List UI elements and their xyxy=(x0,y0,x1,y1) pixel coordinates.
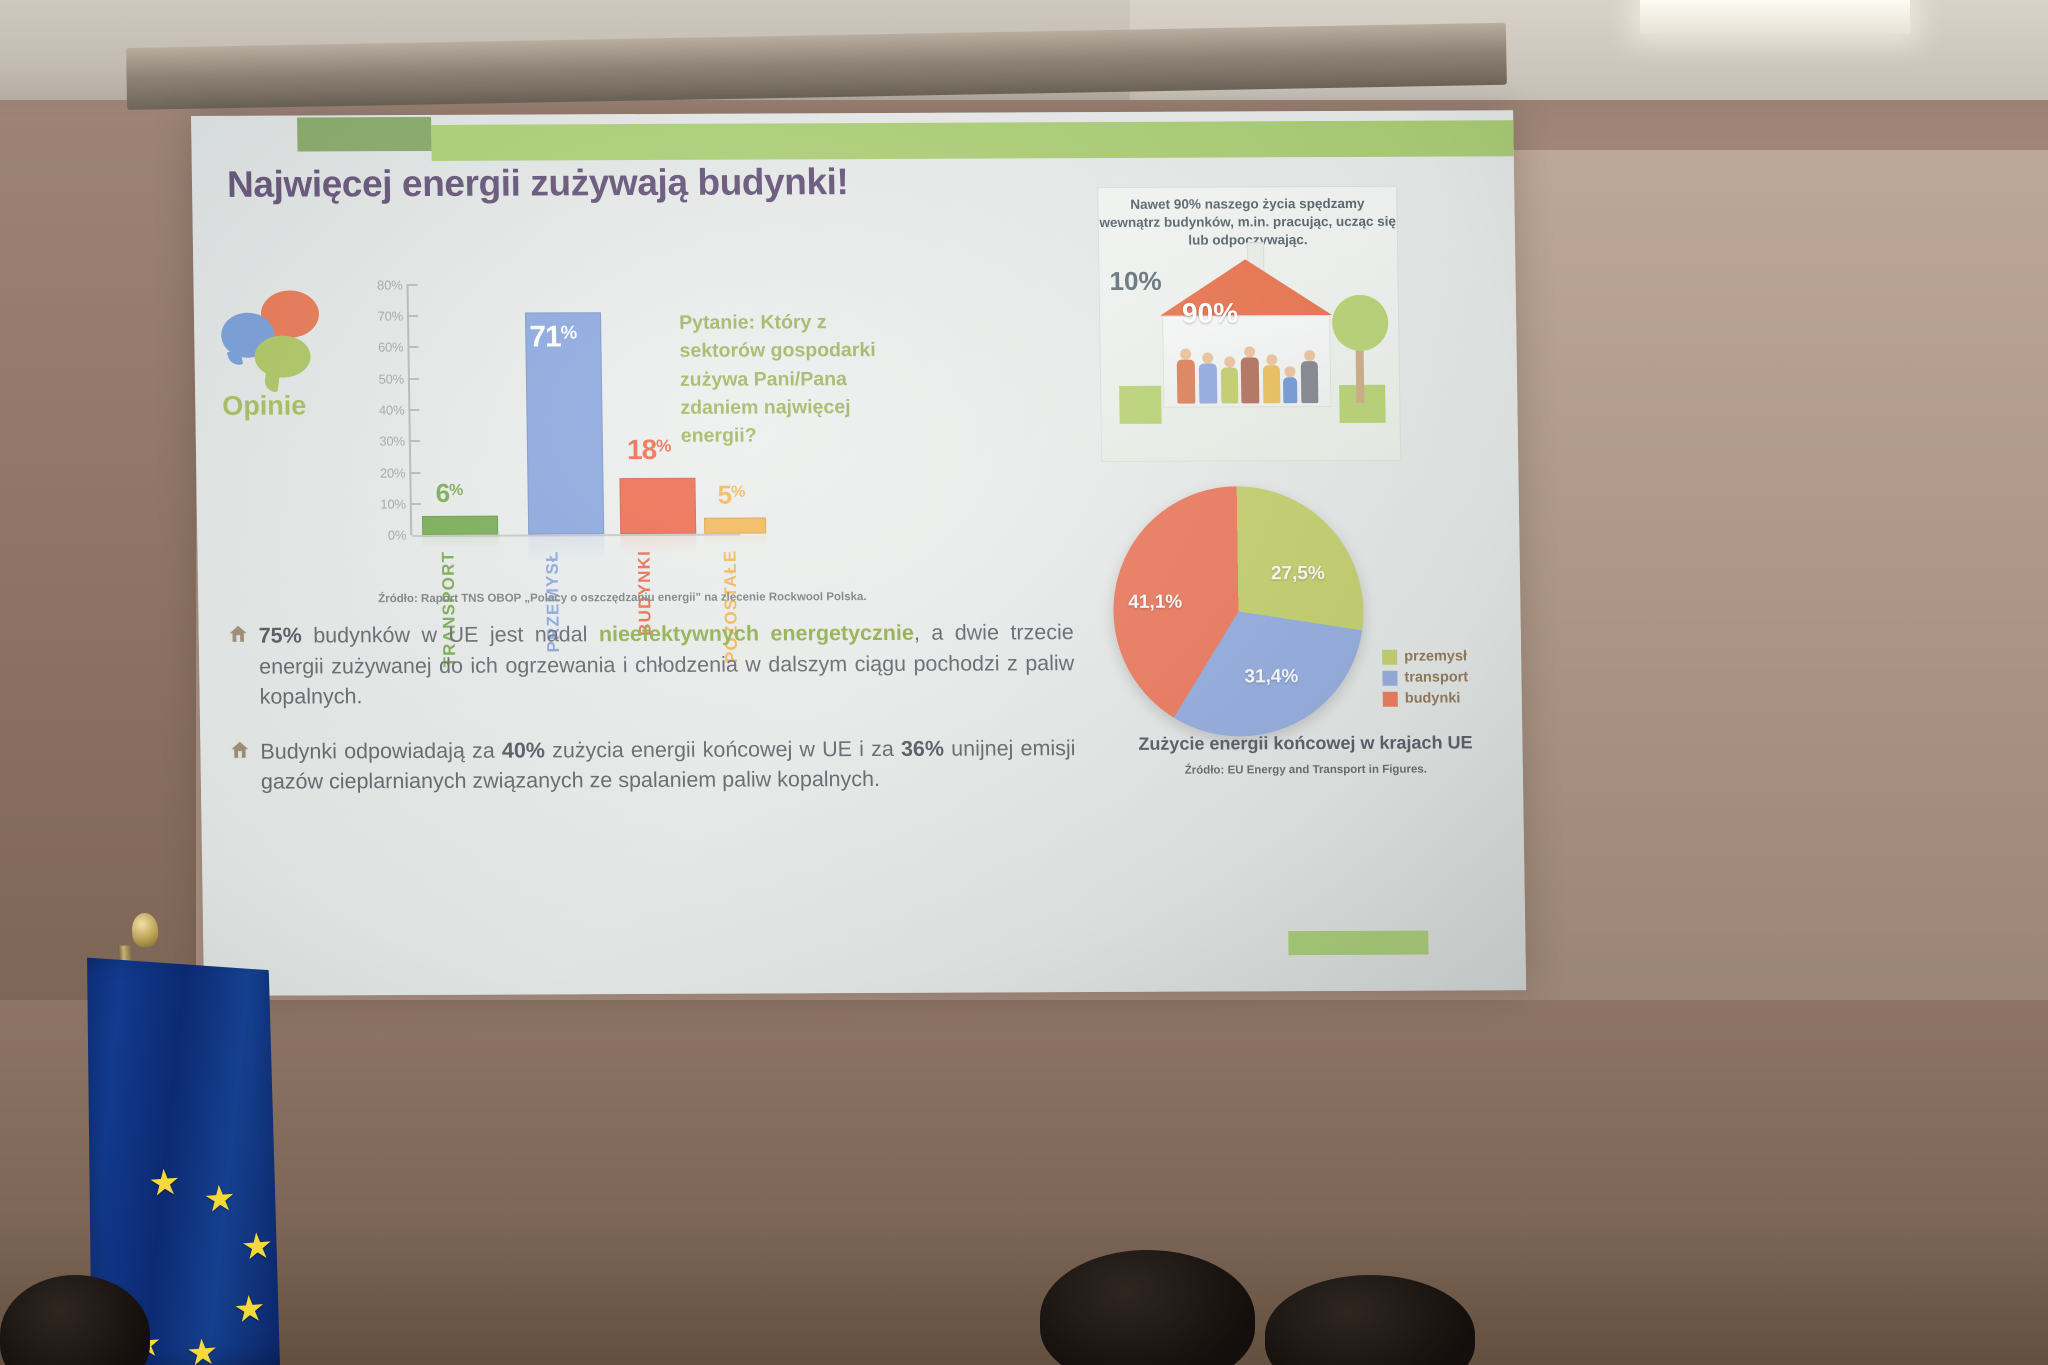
bar-budynki xyxy=(619,478,696,534)
infographic-card: Nawet 90% naszego życia spędzamy wewnątr… xyxy=(1097,186,1401,462)
footer-bar-green xyxy=(1288,931,1428,956)
legend-label-budynki: budynki xyxy=(1405,690,1461,706)
projected-slide: Najwięcej energii zużywają budynki! Opin… xyxy=(191,110,1526,996)
y-tick-40: 40% xyxy=(379,403,405,418)
bullet-2-bold-2: 36% xyxy=(901,736,944,760)
bullet-1-highlight: nieefektywnych energetycznie xyxy=(599,621,914,646)
home-icon xyxy=(229,625,248,643)
legend-swatch-przemysl xyxy=(1382,649,1397,664)
bar-value-budynki: 18% xyxy=(627,434,671,466)
bullet-2-bold-1: 40% xyxy=(502,738,545,762)
pie-chart-caption: Zużycie energii końcowej w krajach UE xyxy=(1105,732,1505,755)
header-bar-dark xyxy=(297,117,432,152)
bullet-2-lead: Budynki xyxy=(260,739,337,763)
eu-star-3: ★ xyxy=(240,1227,275,1265)
person-1 xyxy=(1177,360,1196,404)
right-column: Nawet 90% naszego życia spędzamy wewnątr… xyxy=(1087,185,1497,187)
person-2 xyxy=(1199,364,1218,404)
bullet-text-1: 75% budynków w UE jest nadal nieefektywn… xyxy=(258,617,1074,712)
y-tick-50: 50% xyxy=(378,372,404,387)
legend-item-przemysl: przemysł xyxy=(1382,648,1468,664)
bullet-1-lead: 75% xyxy=(259,623,302,647)
page-title: Najwięcej energii zużywają budynki! xyxy=(227,161,849,206)
y-tick-60: 60% xyxy=(378,340,404,355)
y-axis-ticks: 80% 70% 60% 50% 40% 30% 20% 10% 0% xyxy=(349,285,411,535)
opinions-block: Opinie xyxy=(221,290,346,291)
legend-item-budynki: budynki xyxy=(1383,690,1469,706)
bullet-2-text-a: odpowiadają za xyxy=(337,738,502,763)
eu-star-2: ★ xyxy=(202,1180,237,1218)
y-tick-0: 0% xyxy=(388,528,407,543)
bar-value-transport: 6% xyxy=(435,478,462,509)
bar-pozostale xyxy=(704,517,766,533)
bar-reflection-transport xyxy=(422,536,498,548)
bar-reflection-pozostale xyxy=(704,534,766,546)
bar-value-przemysl: 71% xyxy=(529,320,576,354)
pie-label-transport: 31,4% xyxy=(1244,666,1298,688)
person-7 xyxy=(1301,361,1319,403)
bullet-2-text-b: zużycia energii końcowej w UE i za xyxy=(545,736,901,762)
home-icon xyxy=(230,740,249,758)
slide-header-bars xyxy=(191,110,1514,158)
pie-label-budynki: 41,1% xyxy=(1128,592,1182,614)
person-5 xyxy=(1263,365,1281,403)
tree-crown-icon xyxy=(1332,295,1389,351)
pie-chart-source: Źródło: EU Energy and Transport in Figur… xyxy=(1106,763,1506,777)
person-3 xyxy=(1221,367,1239,403)
header-bar-light xyxy=(431,120,1514,161)
pie-chart: 27,5% 31,4% 41,1% przemysł transport bud… xyxy=(1092,480,1506,772)
conference-room-photo: Najwięcej energii zużywają budynki! Opin… xyxy=(0,0,2048,1365)
legend-swatch-budynki xyxy=(1383,691,1398,706)
y-tick-20: 20% xyxy=(380,466,406,481)
bullet-text-2: Budynki odpowiadają za 40% zużycia energ… xyxy=(260,733,1076,798)
infographic-outside-percent: 10% xyxy=(1109,266,1162,297)
bullet-item-1: 75% budynków w UE jest nadal nieefektywn… xyxy=(228,617,1074,712)
ground-left xyxy=(1119,386,1162,424)
bar-chart-source: Źródło: Raport TNS OBOP „Polacy o oszczę… xyxy=(378,591,867,605)
eu-star-1: ★ xyxy=(147,1164,182,1202)
bullet-item-2: Budynki odpowiadają za 40% zużycia energ… xyxy=(230,733,1076,798)
legend-item-transport: transport xyxy=(1382,669,1468,685)
y-tick-10: 10% xyxy=(380,497,406,512)
infographic-inside-percent: 90% xyxy=(1182,297,1239,329)
bar-transport xyxy=(422,516,498,535)
legend-label-przemysl: przemysł xyxy=(1404,648,1467,664)
wall-lower xyxy=(0,1000,2048,1365)
y-tick-30: 30% xyxy=(379,434,405,449)
eu-star-4: ★ xyxy=(232,1290,267,1328)
speech-bubble-green-icon xyxy=(254,335,311,377)
person-4 xyxy=(1241,357,1260,403)
pie-label-przemysl: 27,5% xyxy=(1271,563,1325,585)
ceiling-light-panel xyxy=(1640,0,1910,34)
people-group-icon xyxy=(1174,339,1321,404)
pie-legend: przemysł transport budynki xyxy=(1382,648,1469,711)
legend-label-transport: transport xyxy=(1404,669,1468,685)
y-tick-70: 70% xyxy=(377,309,403,324)
bullet-1-text-a: budynków w UE jest nadal xyxy=(302,622,599,647)
bar-value-pozostale: 5% xyxy=(717,480,744,511)
y-tick-80: 80% xyxy=(377,278,403,293)
survey-question: Pytanie: Który z sektorów gospodarki zuż… xyxy=(679,308,911,450)
opinions-label: Opinie xyxy=(222,390,306,421)
bar-reflection-budynki xyxy=(620,535,696,555)
bar-reflection-przemysl xyxy=(528,535,604,561)
person-6 xyxy=(1283,377,1297,403)
body-bullets: 75% budynków w UE jest nadal nieefektywn… xyxy=(228,617,1076,821)
eu-star-5: ★ xyxy=(185,1333,220,1365)
legend-swatch-transport xyxy=(1382,670,1397,685)
